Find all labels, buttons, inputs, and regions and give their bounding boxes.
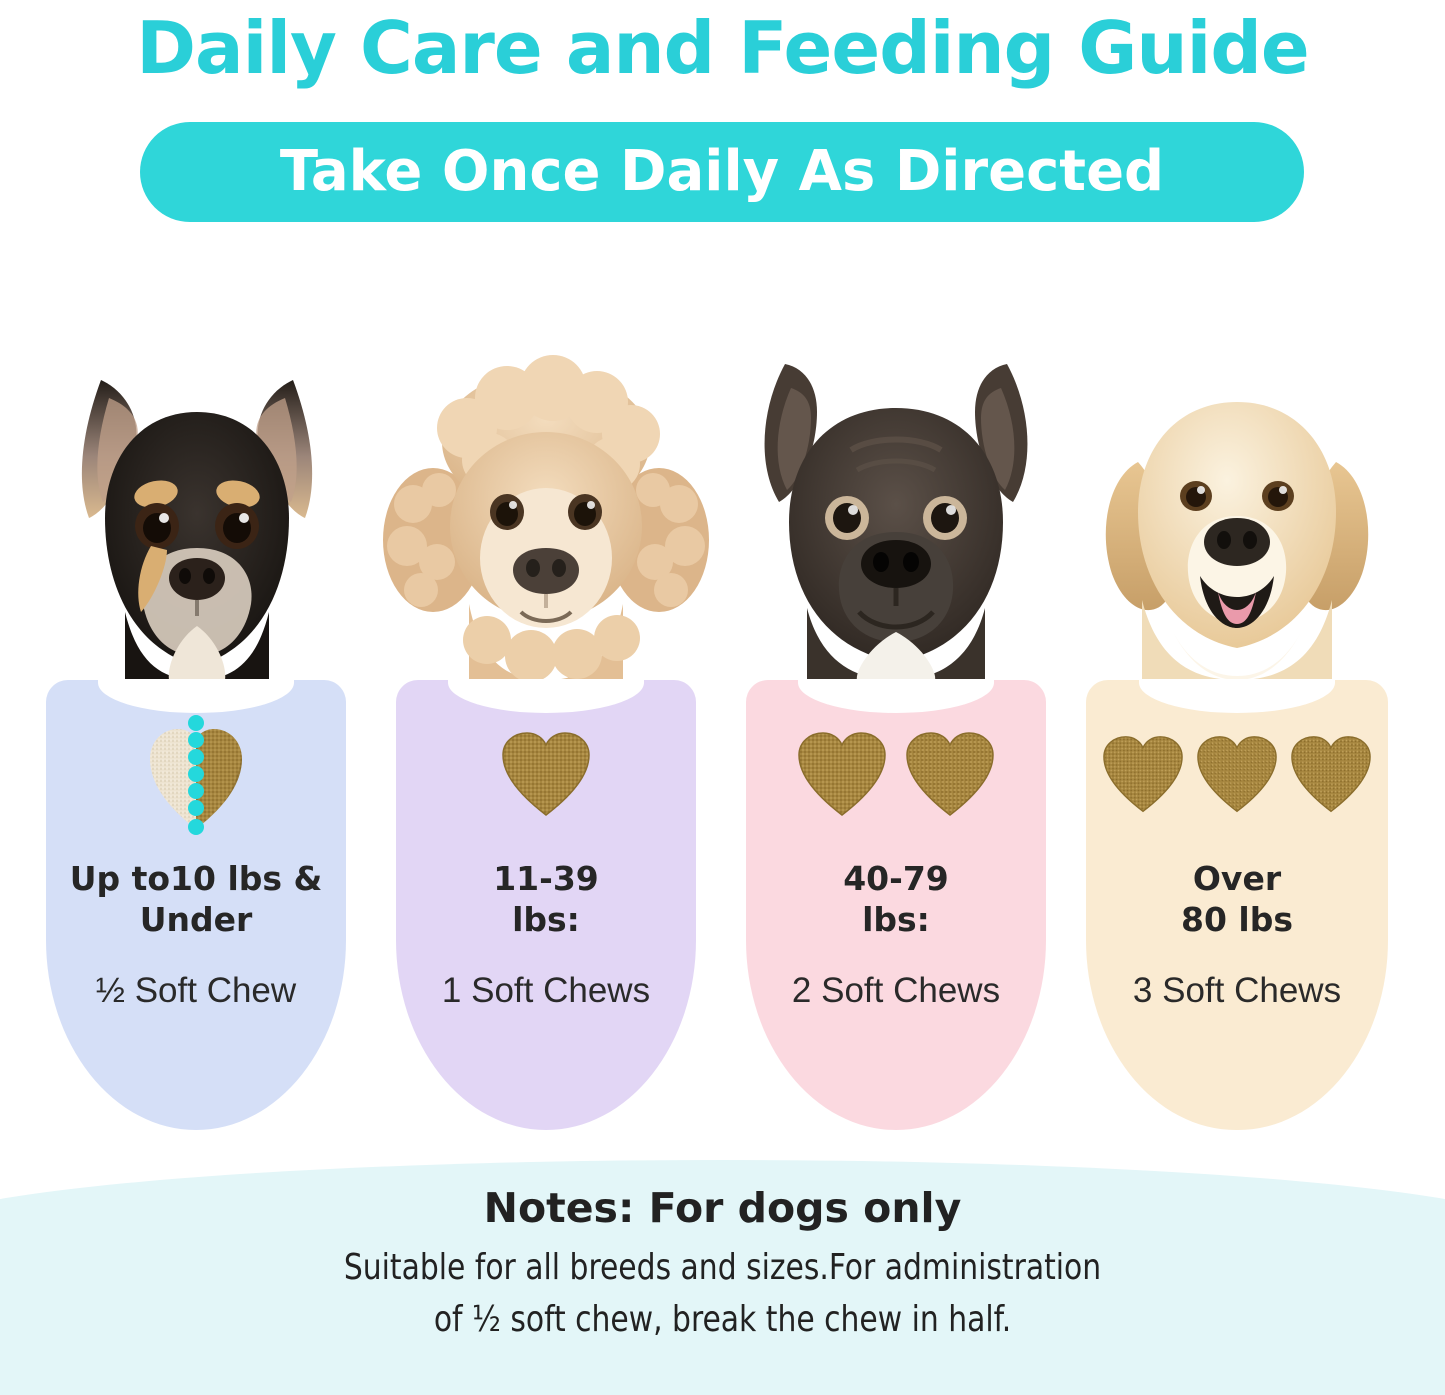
poodle-icon [381,350,711,680]
weight-range-label: Up to10 lbs & Under [46,858,346,940]
panel-notch [798,679,994,713]
soft-chew [1101,735,1185,815]
heart-chew-icon [1289,735,1373,815]
notes-body-text: Suitable for all breeds and sizes.For ad… [58,1242,1387,1346]
golden-retriever-icon [1072,350,1402,680]
dosage-card-40-79-lbs: 40-79 lbs: 2 Soft Chews [746,300,1046,1130]
chew-illustration-half [46,720,346,830]
panel-11-39-lbs: 11-39 lbs: 1 Soft Chews [396,680,696,1130]
dose-label: 2 Soft Chews [746,970,1046,1012]
dose-label: 3 Soft Chews [1086,970,1388,1012]
notes-section: Notes: For dogs only Suitable for all br… [0,1160,1445,1395]
dog-photo-french-bulldog [731,350,1061,680]
feeding-guide-infographic: Daily Care and Feeding Guide Take Once D… [0,0,1445,1395]
directions-pill-label: Take Once Daily As Directed [280,142,1164,202]
soft-chew [1195,735,1279,815]
page-title: Daily Care and Feeding Guide [0,2,1445,94]
heart-chew-icon [796,731,888,819]
dosage-card-up-to-10-lbs: Up to10 lbs & Under ½ Soft Chew [46,300,346,1130]
chew-illustration-2 [746,720,1046,830]
weight-range-label: Over 80 lbs [1086,858,1388,940]
soft-chew [1289,735,1373,815]
weight-range-label: 40-79 lbs: [746,858,1046,940]
panel-notch [1139,679,1335,713]
soft-chew [904,731,996,819]
heart-chew-icon [904,731,996,819]
panel-up-to-10-lbs: Up to10 lbs & Under ½ Soft Chew [46,680,346,1130]
notes-title: Notes: For dogs only [0,1184,1445,1232]
french-bulldog-icon [731,350,1061,680]
heart-chew-icon [500,731,592,819]
heart-chew-icon [1101,735,1185,815]
panel-notch [448,679,644,713]
chihuahua-icon [31,350,361,680]
panel-over-80-lbs: Over 80 lbs 3 Soft Chews [1086,680,1388,1130]
chew-illustration-3 [1086,720,1388,830]
dose-label: ½ Soft Chew [46,970,346,1012]
dosage-card-over-80-lbs: Over 80 lbs 3 Soft Chews [1086,300,1388,1130]
weight-range-label: 11-39 lbs: [396,858,696,940]
panel-40-79-lbs: 40-79 lbs: 2 Soft Chews [746,680,1046,1130]
dog-photo-chihuahua [31,350,361,680]
dosage-cards-row: Up to10 lbs & Under ½ Soft Chew [0,300,1445,1130]
chew-illustration-1 [396,720,696,830]
dog-photo-poodle [381,350,711,680]
dosage-card-11-39-lbs: 11-39 lbs: 1 Soft Chews [396,300,696,1130]
soft-chew [796,731,888,819]
break-line-dots [188,711,204,839]
dog-photo-golden-retriever [1072,350,1402,680]
soft-chew [500,731,592,819]
dose-label: 1 Soft Chews [396,970,696,1012]
half-soft-chew [144,711,248,839]
heart-chew-icon [1195,735,1279,815]
directions-pill-badge: Take Once Daily As Directed [140,122,1304,222]
panel-notch [98,679,294,713]
